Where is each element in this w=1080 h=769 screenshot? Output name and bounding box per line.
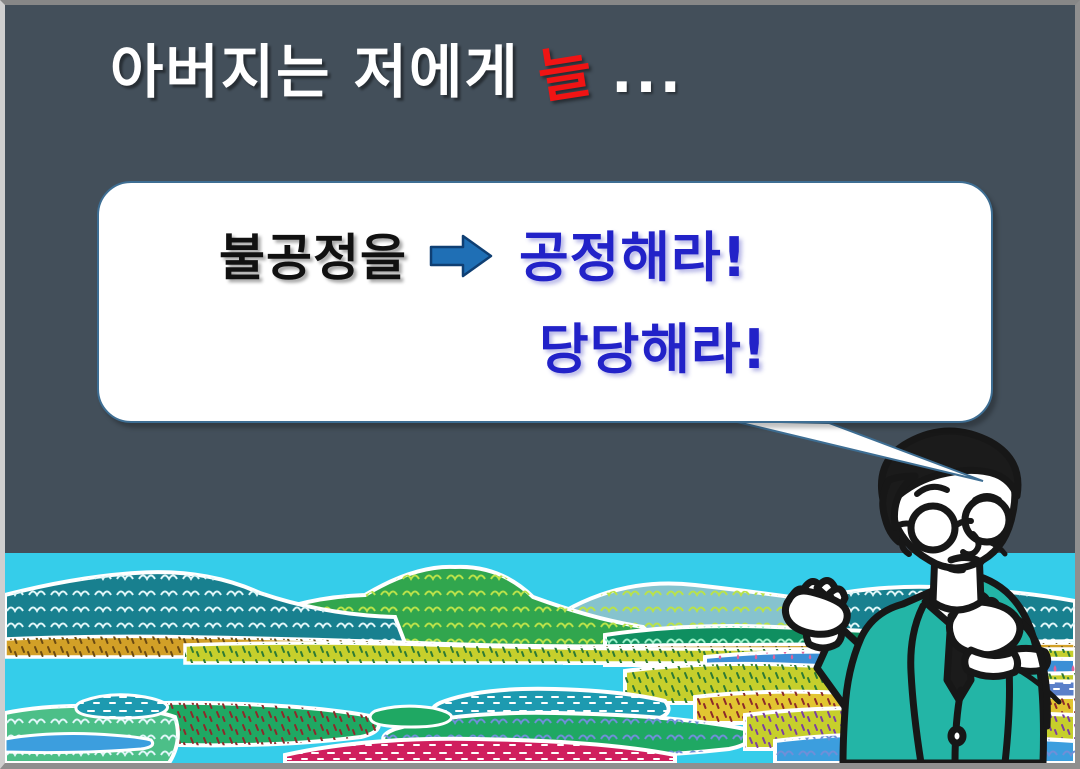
slide-frame: 아버지는 저에게 늘 ... 불공정을 공정해라! — [0, 0, 1080, 769]
bubble-line-two-text: 당당해라! — [539, 323, 767, 377]
title-accent-text: 늘 — [534, 41, 596, 107]
speech-bubble: 불공정을 공정해라! 당당해라! — [93, 177, 1003, 477]
speech-bubble-tail — [733, 417, 993, 487]
bubble-after-text: 공정해라! — [519, 231, 747, 285]
bubble-line-two: 당당해라! — [539, 323, 767, 377]
slide-title: 아버지는 저에게 늘 ... — [110, 43, 684, 127]
bubble-before-text: 불공정을 — [219, 233, 407, 283]
title-ellipsis: ... — [611, 46, 684, 102]
right-arrow-icon — [429, 233, 493, 283]
title-main-text: 아버지는 저에게 — [110, 43, 520, 101]
bubble-line-one: 불공정을 공정해라! — [219, 231, 747, 285]
slide-canvas: 아버지는 저에게 늘 ... 불공정을 공정해라! — [5, 5, 1075, 763]
speech-bubble-body: 불공정을 공정해라! 당당해라! — [97, 181, 993, 423]
